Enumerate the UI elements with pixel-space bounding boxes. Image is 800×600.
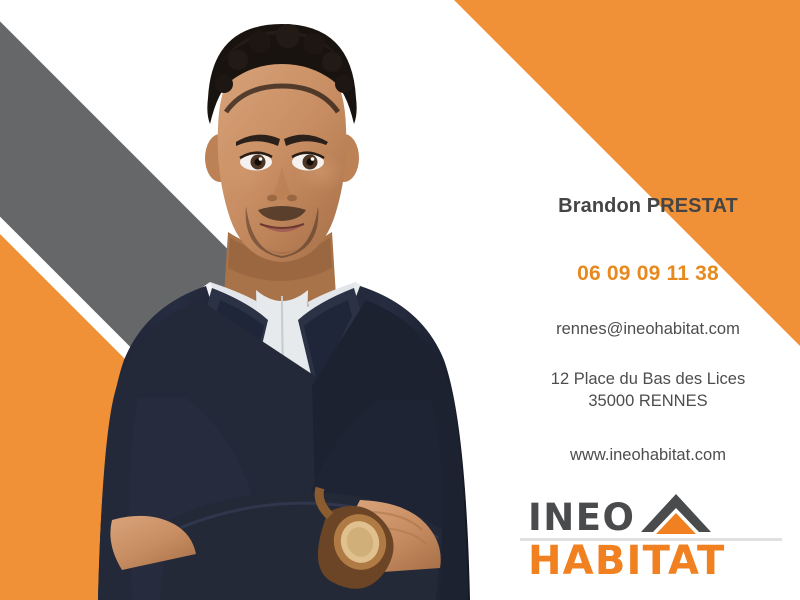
contact-info-panel: Brandon PRESTAT 06 09 09 11 38 rennes@in… xyxy=(498,195,798,465)
contact-address: 12 Place du Bas des Lices 35000 RENNES xyxy=(498,369,798,413)
logo-habitat-text: HABITAT xyxy=(528,541,726,581)
contact-email[interactable]: rennes@ineohabitat.com xyxy=(498,320,798,339)
contact-phone[interactable]: 06 09 09 11 38 xyxy=(498,262,798,286)
contact-address-line2: 35000 RENNES xyxy=(498,391,798,413)
contact-address-line1: 12 Place du Bas des Lices xyxy=(498,369,798,391)
business-card: Brandon PRESTAT 06 09 09 11 38 rennes@in… xyxy=(0,0,800,600)
house-roof-chevron-icon xyxy=(639,492,713,536)
company-logo[interactable]: INEO HABITAT xyxy=(520,492,782,588)
logo-top-row: INEO xyxy=(528,492,713,535)
logo-ineo-text: INEO xyxy=(528,500,635,535)
contact-name: Brandon PRESTAT xyxy=(498,195,798,218)
portrait-photo xyxy=(60,0,530,600)
contact-website[interactable]: www.ineohabitat.com xyxy=(498,446,798,465)
top-right-gray-stripe xyxy=(668,0,800,66)
